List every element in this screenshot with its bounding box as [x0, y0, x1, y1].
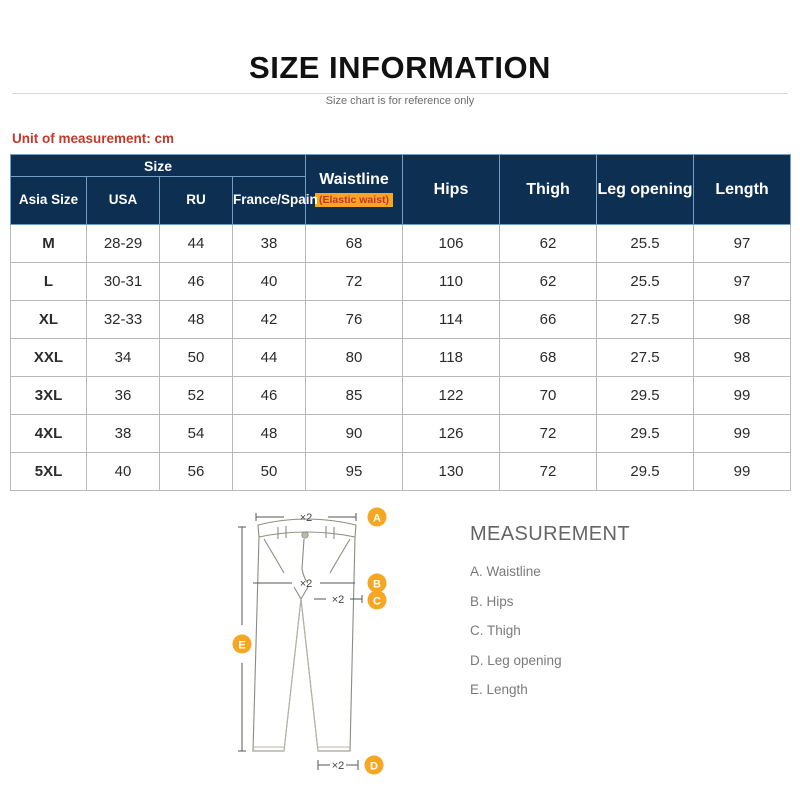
page-title: SIZE INFORMATION: [235, 52, 565, 83]
cell-usa: 40: [87, 453, 160, 491]
marker-e: E: [233, 635, 252, 654]
marker-d-label: D: [370, 760, 378, 772]
table-row: 3XL365246851227029.599: [11, 377, 791, 415]
legend-item-waistline: A. Waistline: [470, 564, 630, 579]
marker-c-label: C: [373, 595, 381, 607]
cell-usa: 30-31: [87, 263, 160, 301]
cell-usa: 34: [87, 339, 160, 377]
cell-usa: 32-33: [87, 301, 160, 339]
cell-waist: 80: [306, 339, 403, 377]
cell-len: 98: [694, 339, 791, 377]
cell-hips: 126: [403, 415, 500, 453]
elastic-waist-badge: (Elastic waist): [315, 193, 393, 207]
marker-e-label: E: [238, 639, 245, 651]
header-ru: RU: [160, 177, 233, 225]
dim-label-c: ×2: [332, 594, 345, 606]
marker-b-label: B: [373, 578, 381, 590]
cell-usa: 28-29: [87, 225, 160, 263]
cell-fr: 46: [233, 377, 306, 415]
table-row: M28-294438681066225.597: [11, 225, 791, 263]
cell-len: 97: [694, 225, 791, 263]
marker-d: D: [365, 756, 384, 775]
measurement-section: ×2 ×2 ×2 ×2 A B C D E: [0, 503, 800, 793]
title-divider-line: [12, 93, 788, 94]
cell-hips: 118: [403, 339, 500, 377]
dim-label-b: ×2: [300, 578, 313, 590]
cell-usa: 36: [87, 377, 160, 415]
cell-asia: L: [11, 263, 87, 301]
cell-waist: 90: [306, 415, 403, 453]
table-row: XXL345044801186827.598: [11, 339, 791, 377]
cell-fr: 44: [233, 339, 306, 377]
header-length: Length: [694, 155, 791, 225]
header-waistline-label: Waistline: [308, 171, 400, 189]
cell-len: 97: [694, 263, 791, 301]
cell-waist: 72: [306, 263, 403, 301]
cell-ru: 54: [160, 415, 233, 453]
legend-item-leg-opening: D. Leg opening: [470, 653, 630, 668]
marker-a: A: [368, 508, 387, 527]
cell-legop: 25.5: [597, 263, 694, 301]
table-row: 4XL385448901267229.599: [11, 415, 791, 453]
cell-waist: 76: [306, 301, 403, 339]
cell-thigh: 72: [500, 415, 597, 453]
header-thigh: Thigh: [500, 155, 597, 225]
legend-item-length: E. Length: [470, 682, 630, 697]
cell-ru: 52: [160, 377, 233, 415]
legend-item-thigh: C. Thigh: [470, 623, 630, 638]
cell-hips: 110: [403, 263, 500, 301]
header-asia-size: Asia Size: [11, 177, 87, 225]
cell-hips: 114: [403, 301, 500, 339]
button-detail: [302, 532, 308, 538]
header-france-spain: France/Spain: [233, 177, 306, 225]
marker-b: B: [368, 574, 387, 593]
cell-ru: 46: [160, 263, 233, 301]
cell-fr: 48: [233, 415, 306, 453]
cell-fr: 40: [233, 263, 306, 301]
header-size-group: Size: [11, 155, 306, 177]
cell-asia: 3XL: [11, 377, 87, 415]
marker-a-label: A: [373, 512, 381, 524]
header-leg-opening: Leg opening: [597, 155, 694, 225]
cell-len: 99: [694, 415, 791, 453]
page-subtitle: Size chart is for reference only: [0, 95, 800, 107]
cell-fr: 42: [233, 301, 306, 339]
cell-fr: 38: [233, 225, 306, 263]
table-header: Size Waistline (Elastic waist) Hips Thig…: [11, 155, 791, 225]
cell-ru: 48: [160, 301, 233, 339]
size-information-page: SIZE INFORMATION Size chart is for refer…: [0, 0, 800, 800]
cell-legop: 25.5: [597, 225, 694, 263]
table-row: L30-314640721106225.597: [11, 263, 791, 301]
cell-asia: XXL: [11, 339, 87, 377]
cell-ru: 50: [160, 339, 233, 377]
cell-legop: 29.5: [597, 377, 694, 415]
cell-legop: 29.5: [597, 415, 694, 453]
legend-title: MEASUREMENT: [470, 523, 630, 546]
cell-thigh: 68: [500, 339, 597, 377]
cell-thigh: 62: [500, 225, 597, 263]
cell-legop: 27.5: [597, 301, 694, 339]
unit-of-measurement-note: Unit of measurement: cm: [12, 131, 800, 146]
measurement-legend: MEASUREMENT A. Waistline B. Hips C. Thig…: [470, 523, 630, 712]
cell-ru: 44: [160, 225, 233, 263]
cell-thigh: 62: [500, 263, 597, 301]
cell-hips: 130: [403, 453, 500, 491]
cell-len: 99: [694, 453, 791, 491]
cell-legop: 27.5: [597, 339, 694, 377]
header-usa: USA: [87, 177, 160, 225]
cell-asia: M: [11, 225, 87, 263]
table-body: M28-294438681066225.597L30-3146407211062…: [11, 225, 791, 491]
cell-hips: 122: [403, 377, 500, 415]
table-row: XL32-334842761146627.598: [11, 301, 791, 339]
cell-waist: 95: [306, 453, 403, 491]
cell-legop: 29.5: [597, 453, 694, 491]
cell-asia: 5XL: [11, 453, 87, 491]
header-waistline: Waistline (Elastic waist): [306, 155, 403, 225]
table-header-group-row: Size Waistline (Elastic waist) Hips Thig…: [11, 155, 791, 177]
pants-measurement-diagram: ×2 ×2 ×2 ×2 A B C D E: [222, 503, 397, 788]
cell-len: 98: [694, 301, 791, 339]
dim-label-a: ×2: [300, 512, 313, 524]
cell-waist: 85: [306, 377, 403, 415]
cell-waist: 68: [306, 225, 403, 263]
cell-asia: XL: [11, 301, 87, 339]
table-row: 5XL405650951307229.599: [11, 453, 791, 491]
cell-usa: 38: [87, 415, 160, 453]
cell-fr: 50: [233, 453, 306, 491]
cell-thigh: 72: [500, 453, 597, 491]
cell-ru: 56: [160, 453, 233, 491]
cell-len: 99: [694, 377, 791, 415]
size-chart-table: Size Waistline (Elastic waist) Hips Thig…: [10, 154, 791, 491]
pants-outline: [253, 519, 356, 751]
cell-thigh: 70: [500, 377, 597, 415]
cell-hips: 106: [403, 225, 500, 263]
marker-c: C: [368, 591, 387, 610]
cell-thigh: 66: [500, 301, 597, 339]
cell-asia: 4XL: [11, 415, 87, 453]
legend-item-hips: B. Hips: [470, 594, 630, 609]
header-block: SIZE INFORMATION Size chart is for refer…: [0, 0, 800, 107]
dim-label-d: ×2: [332, 760, 345, 772]
header-hips: Hips: [403, 155, 500, 225]
